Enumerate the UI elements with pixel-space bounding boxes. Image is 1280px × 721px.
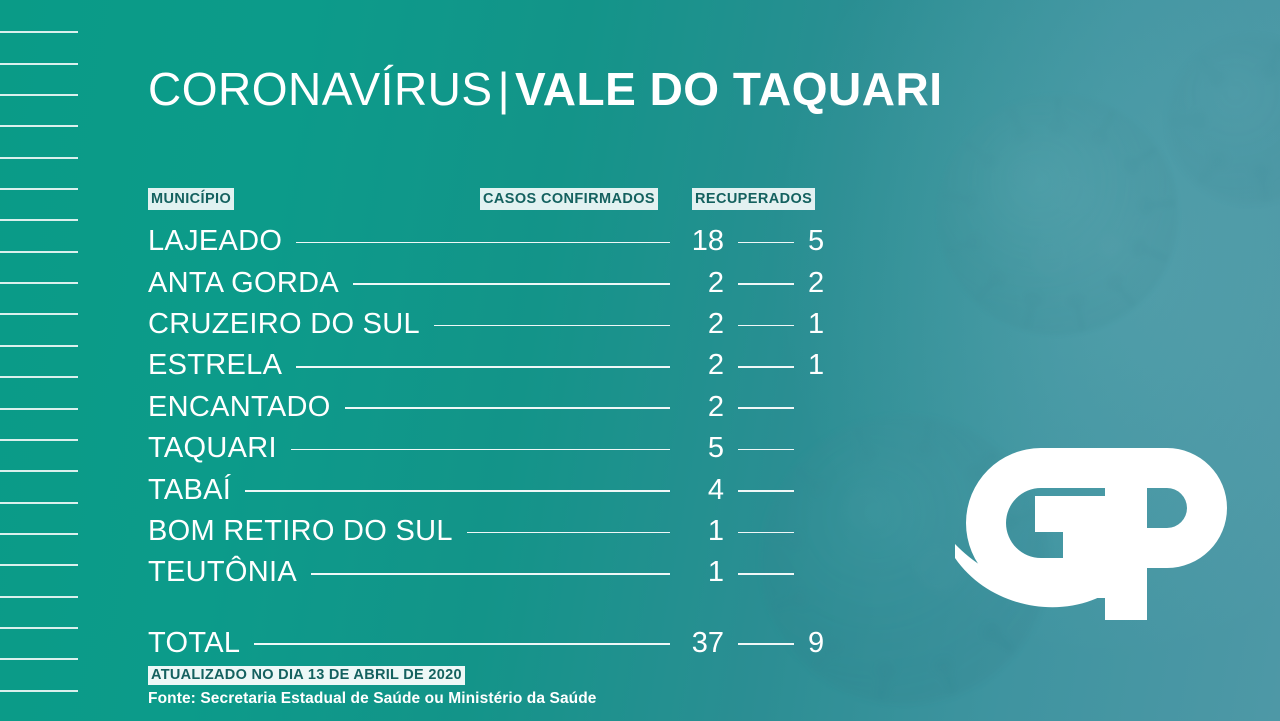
row-leader-line-recovered [738,407,794,409]
side-line [0,502,78,504]
row-confirmed: 18 [684,227,724,256]
side-line [0,63,78,65]
total-row: TOTAL 37 9 [148,623,848,663]
content-area: CORONAVÍRUS|VALE DO TAQUARI MUNICÍPIO CA… [148,0,848,721]
side-line [0,564,78,566]
side-line [0,690,78,692]
total-recovered: 9 [808,629,848,658]
row-leader-line [245,490,670,492]
side-line [0,439,78,441]
row-leader-line [467,532,670,534]
page-title: CORONAVÍRUS|VALE DO TAQUARI [148,66,942,112]
row-city: CRUZEIRO DO SUL [148,310,420,339]
side-line [0,313,78,315]
row-confirmed: 2 [684,393,724,422]
row-confirmed: 4 [684,476,724,505]
table-body: LAJEADO185ANTA GORDA22CRUZEIRO DO SUL21E… [148,221,848,594]
table-row: CRUZEIRO DO SUL21 [148,304,848,345]
row-confirmed: 2 [684,310,724,339]
side-line [0,157,78,159]
row-recovered: 5 [808,227,848,256]
row-confirmed: 1 [684,558,724,587]
title-secondary: VALE DO TAQUARI [515,63,942,115]
row-leader-line [311,573,670,575]
side-line [0,251,78,253]
table-header-row: MUNICÍPIO CASOS CONFIRMADOS RECUPERADOS [148,188,848,210]
table-row: ANTA GORDA22 [148,262,848,303]
row-leader-line-recovered [738,366,794,368]
table-row: TAQUARI5 [148,428,848,469]
total-leader-line [254,643,670,645]
row-leader-line-recovered [738,573,794,575]
table-row: BOM RETIRO DO SUL1 [148,511,848,552]
row-leader-line-recovered [738,449,794,451]
infographic-poster: CORONAVÍRUS|VALE DO TAQUARI MUNICÍPIO CA… [0,0,1280,721]
row-city: ESTRELA [148,351,282,380]
source-note: Fonte: Secretaria Estadual de Saúde ou M… [148,688,597,709]
side-line [0,31,78,33]
row-city: TAQUARI [148,434,277,463]
row-leader-line [296,366,670,368]
title-separator: | [493,63,515,115]
row-leader-line [291,449,670,451]
row-city: LAJEADO [148,227,282,256]
row-confirmed: 2 [684,351,724,380]
row-leader-line [434,325,670,327]
row-city: BOM RETIRO DO SUL [148,517,453,546]
table-row: ENCANTADO2 [148,387,848,428]
row-city: ENCANTADO [148,393,331,422]
row-confirmed: 5 [684,434,724,463]
table-row: TEUTÔNIA1 [148,552,848,593]
row-leader-line-recovered [738,242,794,244]
column-header-confirmed: CASOS CONFIRMADOS [480,188,658,210]
side-line [0,188,78,190]
side-line-decoration [0,0,80,721]
table-row: ESTRELA21 [148,345,848,386]
column-header-municipality: MUNICÍPIO [148,188,234,210]
side-line [0,94,78,96]
row-confirmed: 2 [684,269,724,298]
side-line [0,658,78,660]
side-line [0,282,78,284]
total-leader-line-recovered [738,643,794,645]
table-row: LAJEADO185 [148,221,848,262]
row-city: TABAÍ [148,476,231,505]
side-line [0,345,78,347]
column-header-recovered: RECUPERADOS [692,188,815,210]
row-leader-line [353,283,670,285]
side-line [0,596,78,598]
title-primary: CORONAVÍRUS [148,63,493,115]
total-label: TOTAL [148,629,240,658]
row-recovered: 1 [808,310,848,339]
side-line [0,408,78,410]
side-line [0,533,78,535]
updated-date-badge: ATUALIZADO NO DIA 13 DE ABRIL DE 2020 [148,666,465,685]
gp-logo [955,440,1245,630]
row-leader-line [296,242,670,244]
side-line [0,470,78,472]
side-line [0,125,78,127]
row-leader-line [345,407,670,409]
row-recovered: 2 [808,269,848,298]
row-leader-line-recovered [738,490,794,492]
row-leader-line-recovered [738,532,794,534]
row-confirmed: 1 [684,517,724,546]
side-line [0,219,78,221]
row-leader-line-recovered [738,325,794,327]
side-line [0,627,78,629]
row-leader-line-recovered [738,283,794,285]
side-line [0,376,78,378]
row-recovered: 1 [808,351,848,380]
row-city: TEUTÔNIA [148,558,297,587]
row-city: ANTA GORDA [148,269,339,298]
table-row: TABAÍ4 [148,469,848,510]
total-confirmed: 37 [684,629,724,658]
